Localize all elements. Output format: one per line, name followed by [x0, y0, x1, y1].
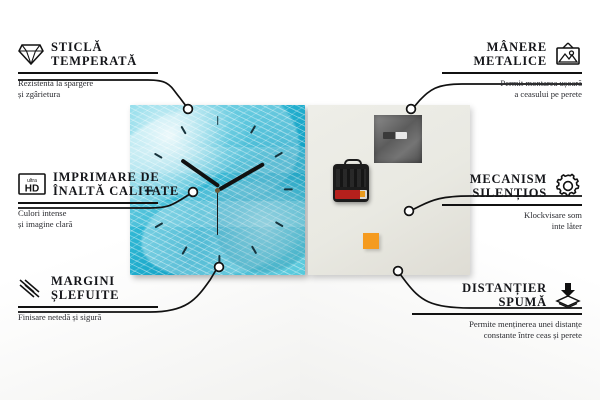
picture-hanger-icon [554, 42, 582, 66]
feature-polished-edges: MARGINI ȘLEFUITE Finisare netedă și sigu… [18, 274, 158, 323]
feature-head: DISTANȚIER SPUMĂ [412, 281, 582, 309]
feature-title-line: IMPRIMARE DE [53, 170, 179, 184]
feature-divider [18, 202, 158, 204]
feature-title-line: TEMPERATĂ [51, 54, 137, 68]
feature-tempered-glass: STICLĂ TEMPERATĂ Rezistentă la spargere … [18, 40, 158, 100]
feature-subtitle: Rezistentă la spargere și zgârietura [18, 78, 158, 100]
diamond-icon [18, 42, 44, 66]
metal-hanger-part [374, 115, 422, 163]
clock-center-pin [215, 188, 220, 193]
feature-head: MARGINI ȘLEFUITE [18, 274, 158, 302]
feature-title-line: MARGINI [51, 274, 119, 288]
foam-spacer-icon [554, 282, 582, 308]
ultra-hd-icon: ultra HD [18, 172, 46, 196]
feature-title-line: METALICE [442, 54, 547, 68]
feature-subtitle: Finisare netedă și sigură [18, 312, 158, 323]
hanger-slot [383, 132, 407, 139]
mechanism-loop [344, 159, 362, 169]
feature-divider [18, 306, 158, 308]
feature-title: MARGINI ȘLEFUITE [51, 274, 119, 302]
feature-silent-mechanism: MECANISM SILENȚIOS Klockvisare som inte … [442, 172, 582, 232]
mechanism-housing [336, 169, 366, 187]
feature-title-line: SPUMĂ [412, 295, 547, 309]
feature-title-line: ÎNALTĂ CALITATE [53, 184, 179, 198]
infographic-canvas: STICLĂ TEMPERATĂ Rezistentă la spargere … [0, 0, 600, 400]
feature-head: ultra HD IMPRIMARE DE ÎNALTĂ CALITATE [18, 170, 158, 198]
feature-title-line: DISTANȚIER [412, 281, 547, 295]
feature-subtitle: Culori intense și imagine clară [18, 208, 158, 230]
clock-second-hand [216, 189, 217, 235]
clock-mechanism-part [333, 164, 369, 202]
foam-spacer-part [363, 233, 379, 249]
feature-head: MÂNERE METALICE [442, 40, 582, 68]
feature-divider [442, 72, 582, 74]
feature-head: MECANISM SILENȚIOS [442, 172, 582, 200]
feature-title: STICLĂ TEMPERATĂ [51, 40, 137, 68]
feature-metal-hangers: MÂNERE METALICE Permit montarea ușoară a… [442, 40, 582, 100]
feature-subtitle: Klockvisare som inte låter [442, 210, 582, 232]
feature-subtitle: Permite menținerea unei distanțe constan… [412, 319, 582, 341]
feature-divider [18, 72, 158, 74]
feature-head: STICLĂ TEMPERATĂ [18, 40, 158, 68]
feature-high-quality-print: ultra HD IMPRIMARE DE ÎNALTĂ CALITATE Cu… [18, 170, 158, 230]
svg-text:HD: HD [25, 184, 39, 195]
feature-title-line: STICLĂ [51, 40, 137, 54]
battery-terminal [360, 191, 365, 197]
feature-title: DISTANȚIER SPUMĂ [412, 281, 547, 309]
feature-title-line: SILENȚIOS [442, 186, 547, 200]
feature-divider [442, 204, 582, 206]
polished-edges-icon [18, 276, 44, 300]
feature-title: MÂNERE METALICE [442, 40, 547, 68]
feature-title-line: ȘLEFUITE [51, 288, 119, 302]
feature-title-line: MÂNERE [442, 40, 547, 54]
feature-subtitle: Permit montarea ușoară a ceasului pe per… [442, 78, 582, 100]
feature-foam-spacer: DISTANȚIER SPUMĂ Permite menținerea unei… [412, 281, 582, 341]
feature-title-line: MECANISM [442, 172, 547, 186]
gear-icon [554, 173, 582, 199]
product-images [130, 105, 470, 275]
feature-divider [412, 313, 582, 315]
feature-title: IMPRIMARE DE ÎNALTĂ CALITATE [53, 170, 179, 198]
battery-part [335, 190, 367, 199]
feature-title: MECANISM SILENȚIOS [442, 172, 547, 200]
